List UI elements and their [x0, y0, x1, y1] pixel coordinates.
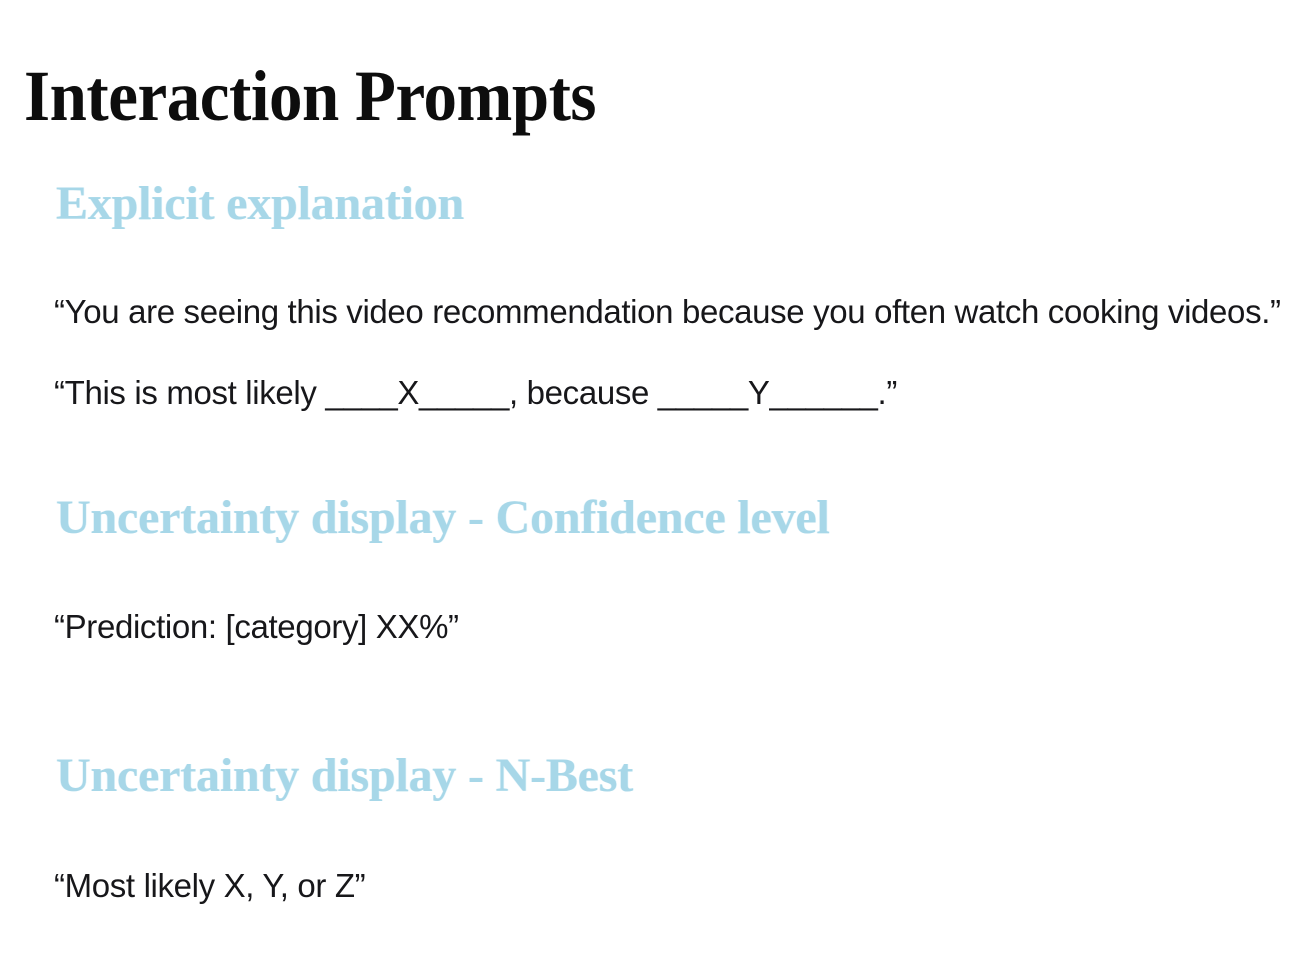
prompt-line-confidence-template: “Prediction: [category] XX%”	[54, 607, 1257, 648]
section-uncertainty-confidence-level: Uncertainty display - Confidence level “…	[54, 492, 1257, 649]
section-heading-explicit-explanation: Explicit explanation	[56, 178, 1257, 230]
prompt-line-explicit-example: “You are seeing this video recommendatio…	[54, 292, 1257, 333]
section-explicit-explanation: Explicit explanation “You are seeing thi…	[54, 178, 1257, 414]
section-uncertainty-n-best: Uncertainty display - N-Best “Most likel…	[54, 750, 1257, 907]
slide-content: Explicit explanation “You are seeing thi…	[54, 178, 1257, 907]
slide-canvas: Interaction Prompts Explicit explanation…	[0, 0, 1297, 971]
section-heading-uncertainty-n-best: Uncertainty display - N-Best	[56, 750, 1257, 802]
prompt-line-n-best-template: “Most likely X, Y, or Z”	[54, 866, 1257, 907]
prompt-line-explicit-template: “This is most likely ____X_____, because…	[54, 373, 1257, 414]
section-heading-uncertainty-confidence-level: Uncertainty display - Confidence level	[56, 492, 1257, 544]
page-title: Interaction Prompts	[24, 60, 596, 132]
